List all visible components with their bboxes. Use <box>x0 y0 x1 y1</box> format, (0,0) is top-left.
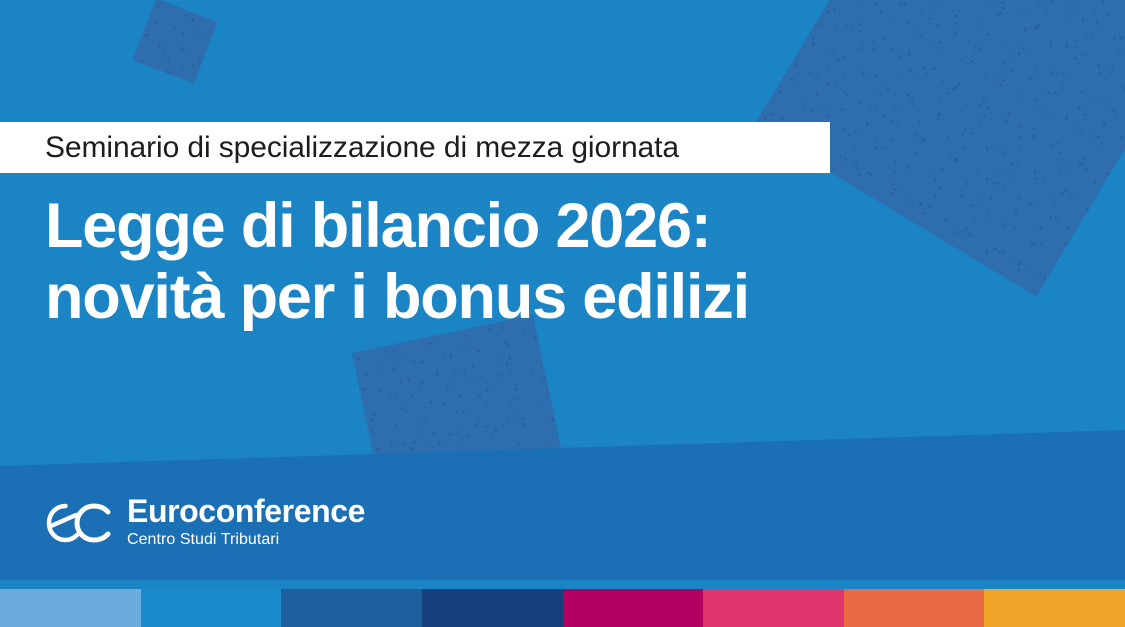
stripe-segment-amber <box>984 589 1125 627</box>
stripe-segment-magenta <box>563 589 704 627</box>
stripe-segment-light-blue <box>0 589 141 627</box>
logo-name: Euroconference <box>127 495 365 528</box>
logo-text-lockup: Euroconference Centro Studi Tributari <box>127 495 365 550</box>
stripe-segment-steel-blue <box>281 589 422 627</box>
stripe-segment-navy <box>422 589 563 627</box>
euroconference-logo: Euroconference Centro Studi Tributari <box>45 495 365 550</box>
page-title: Legge di bilancio 2026: novità per i bon… <box>45 191 1045 332</box>
ec-monogram-icon <box>45 500 113 546</box>
stripe-segment-pink <box>703 589 844 627</box>
promo-banner: Seminario di specializzazione di mezza g… <box>0 0 1125 627</box>
eyebrow-text: Seminario di specializzazione di mezza g… <box>45 131 679 165</box>
eyebrow-ribbon: Seminario di specializzazione di mezza g… <box>0 122 830 173</box>
stripe-segment-blue <box>141 589 282 627</box>
color-stripe <box>0 589 1125 627</box>
stripe-segment-orange <box>844 589 985 627</box>
logo-tagline: Centro Studi Tributari <box>127 530 365 551</box>
